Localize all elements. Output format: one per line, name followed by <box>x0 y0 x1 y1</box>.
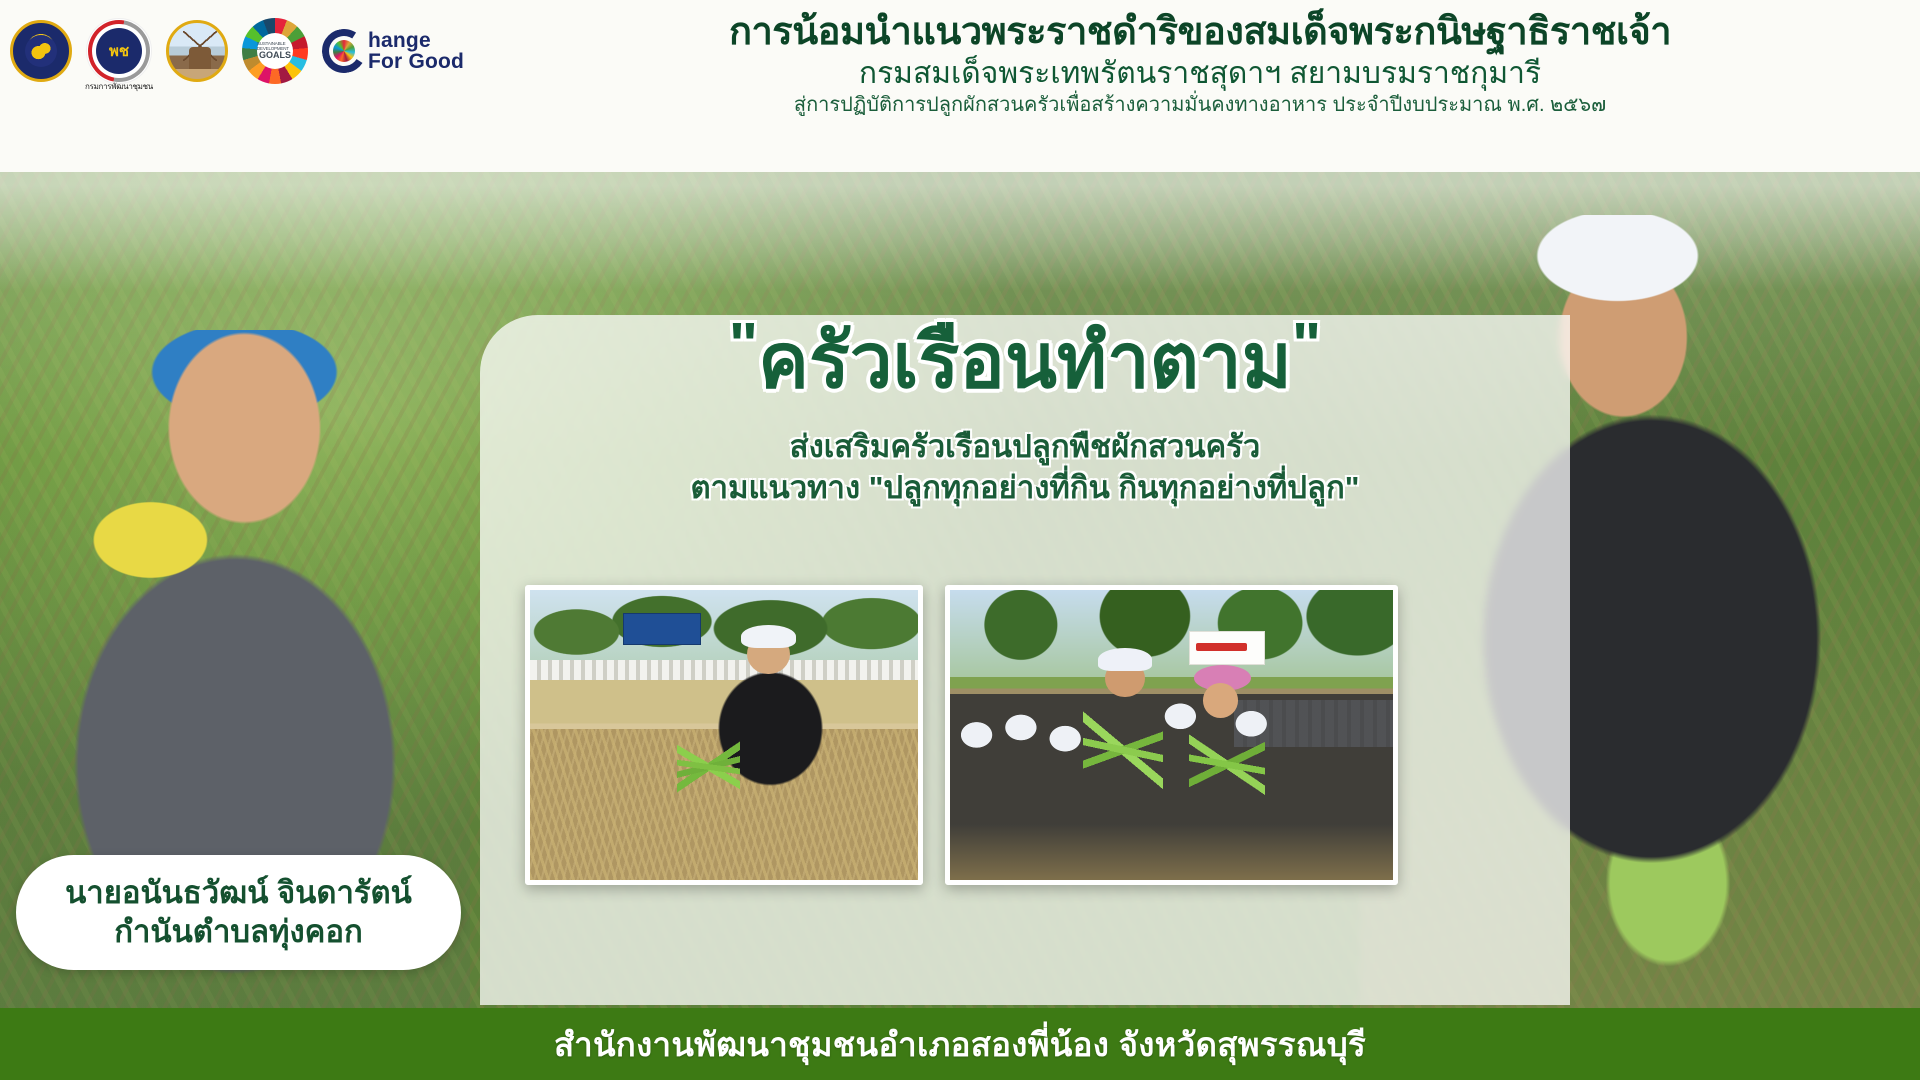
header-bar: พช กรมการพัฒนาชุมชน SUSTAINABLE DEVELOPM… <box>0 0 1920 172</box>
footer-bar: สำนักงานพัฒนาชุมชนอำเภอสองพี่น้อง จังหวั… <box>0 1008 1920 1080</box>
photo-gallery <box>525 585 1525 925</box>
garuda-provincial-seal-icon <box>10 20 72 82</box>
subtitle-line-1: ส่งเสริมครัวเรือนปลูกพืชผักสวนครัว <box>480 426 1570 468</box>
subtitle-block: ส่งเสริมครัวเรือนปลูกพืชผักสวนครัว ตามแน… <box>480 426 1570 510</box>
headline-text: ครัวเรือนทำตาม <box>758 320 1292 404</box>
cdd-core-text: พช <box>109 44 129 59</box>
header-title-line-3: สู่การปฏิบัติการปลูกผักสวนครัวเพื่อสร้าง… <box>480 92 1920 119</box>
quote-open-mark: " <box>729 311 758 380</box>
photo-seedling-handout <box>945 585 1398 885</box>
quote-close-mark: " <box>1292 311 1321 380</box>
change-for-good-logo-icon: hange For Good <box>322 29 464 73</box>
cdd-logo-caption: กรมการพัฒนาชุมชน <box>82 80 156 93</box>
header-title-block: การน้อมนำแนวพระราชดำริของสมเด็จพระกนิษฐา… <box>480 10 1920 119</box>
suphanburi-province-emblem-icon <box>166 20 228 82</box>
headline-block: "ครัวเรือนทำตาม" ส่งเสริมครัวเรือนปลูกพื… <box>480 320 1570 509</box>
cdd-logo-icon: พช กรมการพัฒนาชุมชน <box>86 18 152 84</box>
cfg-word-2: For Good <box>368 51 464 72</box>
header-title-line-1: การน้อมนำแนวพระราชดำริของสมเด็จพระกนิษฐา… <box>480 10 1920 55</box>
name-badge: นายอนันธวัฒน์ จินดารัตน์ กำนันตำบลทุ่งคอ… <box>16 855 461 970</box>
cfg-word-1: hange <box>368 30 464 51</box>
header-title-line-2: กรมสมเด็จพระเทพรัตนราชสุดาฯ สยามบรมราชกุ… <box>480 55 1920 93</box>
subtitle-line-2: ตามแนวทาง "ปลูกทุกอย่างที่กิน กินทุกอย่า… <box>480 467 1570 509</box>
poster-root: พช กรมการพัฒนาชุมชน SUSTAINABLE DEVELOPM… <box>0 0 1920 1080</box>
footer-office-name: สำนักงานพัฒนาชุมชนอำเภอสองพี่น้อง จังหวั… <box>554 1018 1366 1071</box>
sdg-wheel-icon: SUSTAINABLE DEVELOPMENT GOALS <box>242 18 308 84</box>
sdg-hub-line2: GOALS <box>259 51 291 60</box>
photo-planting-lemongrass <box>525 585 923 885</box>
name-badge-person-name: นายอนันธวัฒน์ จินดารัตน์ <box>65 874 412 913</box>
name-badge-person-title: กำนันตำบลทุ่งคอก <box>114 913 362 952</box>
logo-strip: พช กรมการพัฒนาชุมชน SUSTAINABLE DEVELOPM… <box>10 18 464 84</box>
